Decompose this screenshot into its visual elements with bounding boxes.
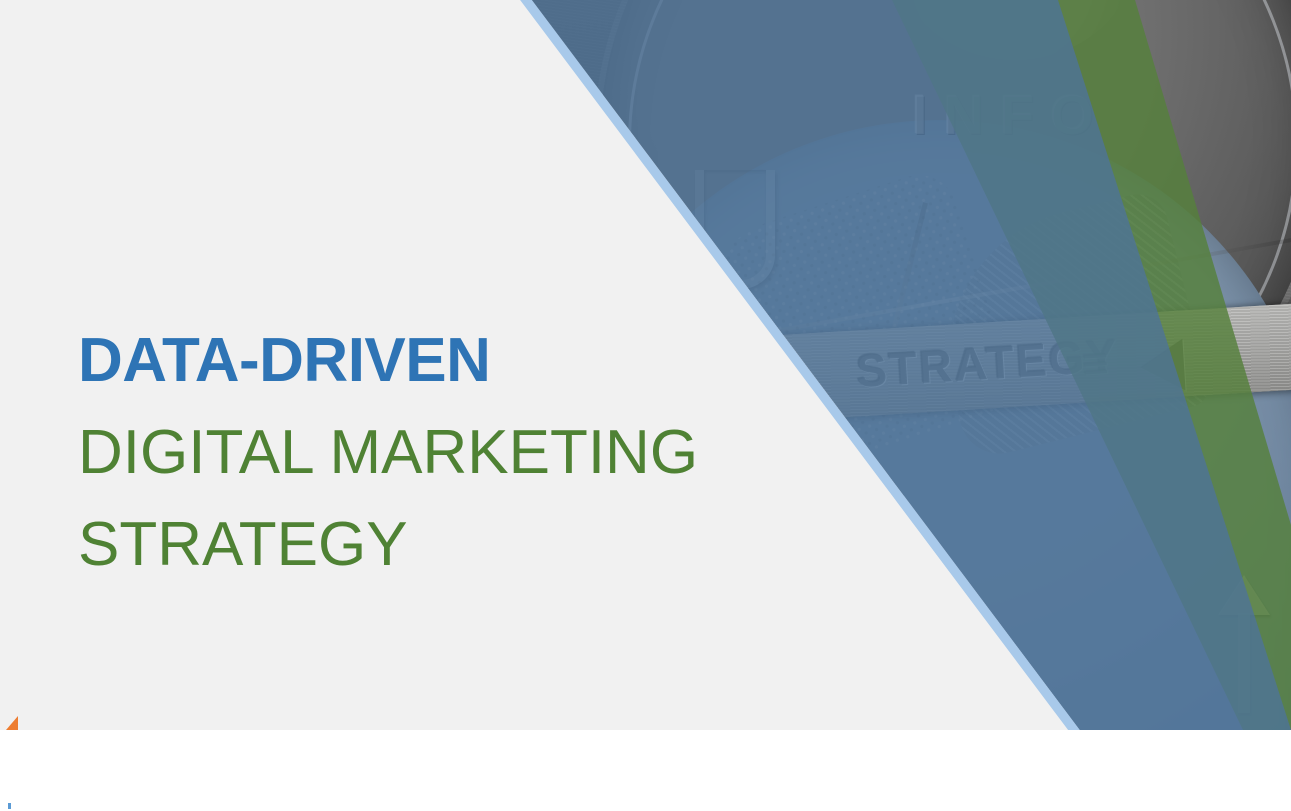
- orange-corner-triangle-icon: [6, 716, 18, 730]
- arrow-up-head: [1218, 575, 1270, 615]
- page-title-line-2: DIGITAL MARKETING: [78, 422, 798, 484]
- page-title-line-3: STRATEGY: [78, 514, 798, 576]
- blue-tick-icon: [8, 803, 11, 809]
- arrow-up-stem: [1238, 613, 1250, 713]
- embossed-info-text: INFO: [912, 82, 1110, 147]
- chevron-left-icon: [1138, 339, 1185, 394]
- presentation-slide: INFO STRATEGY ≡ DATA-DRIVEN DIGITAL MARK…: [0, 0, 1291, 730]
- slide-title-block: DATA-DRIVEN DIGITAL MARKETING STRATEGY: [78, 330, 798, 606]
- page-title-line-1: DATA-DRIVEN: [78, 330, 798, 392]
- embossed-bars-glyph: ≡: [1080, 335, 1119, 391]
